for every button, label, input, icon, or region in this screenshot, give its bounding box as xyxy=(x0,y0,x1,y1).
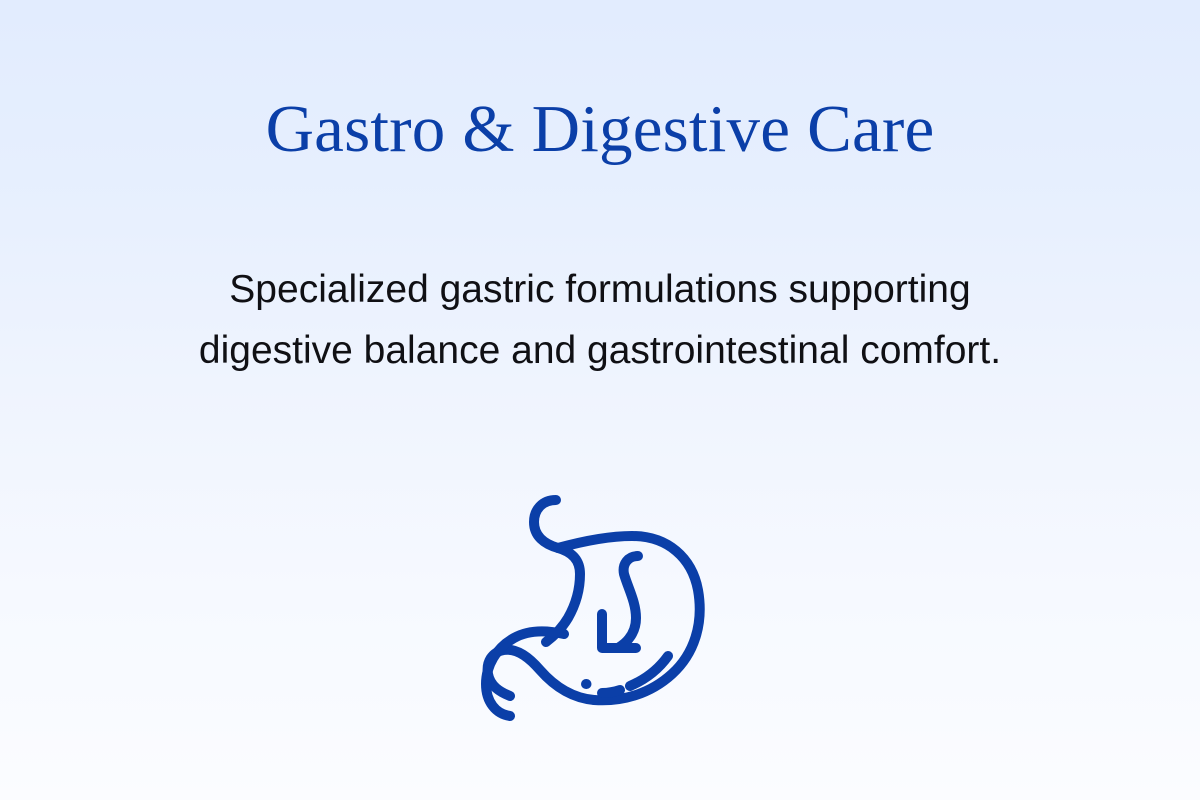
hero-panel: Gastro & Digestive Care Specialized gast… xyxy=(0,0,1200,800)
hero-subtitle: Specialized gastric formulations support… xyxy=(50,259,1150,381)
stomach-icon xyxy=(472,478,728,734)
hero-subtitle-line-2: digestive balance and gastrointestinal c… xyxy=(50,320,1150,381)
hero-subtitle-line-1: Specialized gastric formulations support… xyxy=(50,259,1150,320)
page-title: Gastro & Digestive Care xyxy=(0,96,1200,163)
hero-icon-container xyxy=(0,478,1200,734)
